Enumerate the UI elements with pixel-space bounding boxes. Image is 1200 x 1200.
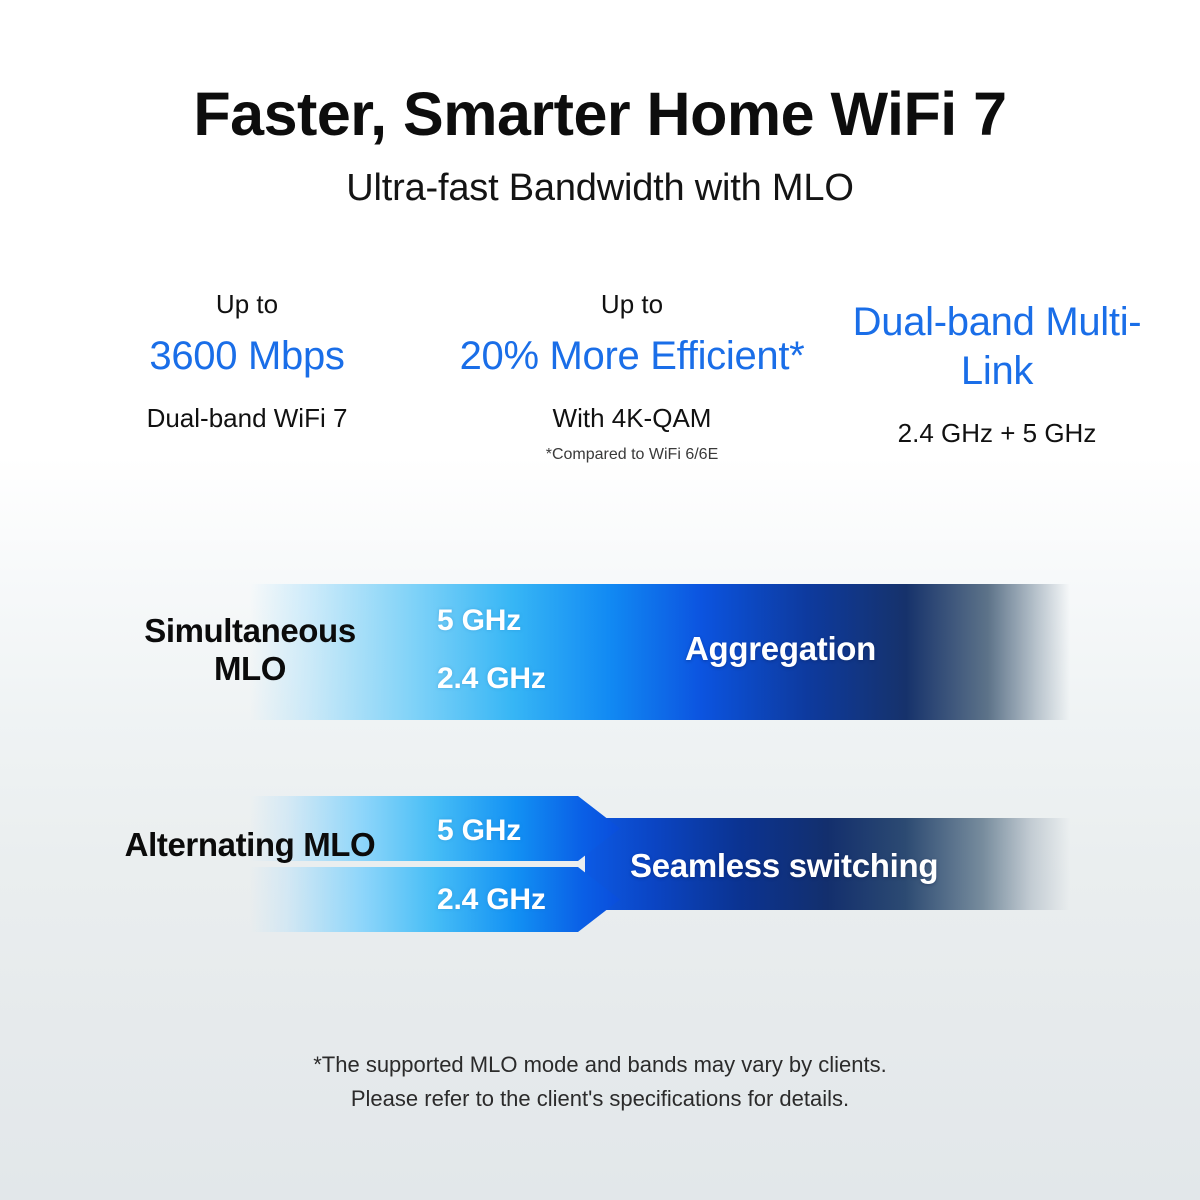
stat-card-multilink: Up to Dual-band Multi-Link 2.4 GHz + 5 G…	[832, 288, 1162, 449]
page-subtitle: Ultra-fast Bandwidth with MLO	[0, 168, 1200, 210]
stat-eyebrow: Up to	[62, 288, 432, 322]
disclaimer-line-2: Please refer to the client's specificati…	[0, 1082, 1200, 1116]
stat-subtitle: Dual-band WiFi 7	[62, 403, 432, 434]
stat-footnote: *Compared to WiFi 6/6E	[432, 446, 832, 464]
mlo-row-alternating: Alternating MLO 5 GHz 2.4 GHz Seamless s…	[0, 796, 1200, 932]
alternating-chevron-24ghz	[250, 867, 620, 932]
disclaimer-block: *The supported MLO mode and bands may va…	[0, 1048, 1200, 1116]
stats-row: Up to 3600 Mbps Dual-band WiFi 7 Up to 2…	[0, 288, 1200, 464]
alternating-band-24ghz: 2.4 GHz	[437, 883, 546, 917]
stat-value: Dual-band Multi-Link	[832, 298, 1162, 396]
mlo-row-simultaneous: Simultaneous MLO 5 GHz 2.4 GHz Aggregati…	[0, 584, 1200, 720]
simultaneous-band-24ghz: 2.4 GHz	[437, 662, 546, 696]
stat-value: 3600 Mbps	[62, 332, 432, 381]
simultaneous-band-5ghz: 5 GHz	[437, 604, 521, 638]
simultaneous-outcome-label: Aggregation	[685, 630, 876, 668]
page-title: Faster, Smarter Home WiFi 7	[0, 82, 1200, 148]
simultaneous-mlo-label: Simultaneous MLO	[110, 612, 390, 688]
disclaimer-line-1: *The supported MLO mode and bands may va…	[0, 1048, 1200, 1082]
header-block: Faster, Smarter Home WiFi 7 Ultra-fast B…	[0, 82, 1200, 210]
alternating-band-5ghz: 5 GHz	[437, 814, 521, 848]
stat-eyebrow: Up to	[432, 288, 832, 322]
stat-subtitle: With 4K-QAM	[432, 403, 832, 434]
alternating-mlo-label: Alternating MLO	[110, 826, 390, 864]
stat-card-efficiency: Up to 20% More Efficient* With 4K-QAM *C…	[432, 288, 832, 464]
stat-card-bandwidth: Up to 3600 Mbps Dual-band WiFi 7	[62, 288, 432, 434]
alternating-outcome-label: Seamless switching	[630, 847, 938, 885]
stat-subtitle: 2.4 GHz + 5 GHz	[832, 418, 1162, 449]
stat-value: 20% More Efficient*	[432, 332, 832, 381]
infographic-canvas: Faster, Smarter Home WiFi 7 Ultra-fast B…	[0, 0, 1200, 1200]
